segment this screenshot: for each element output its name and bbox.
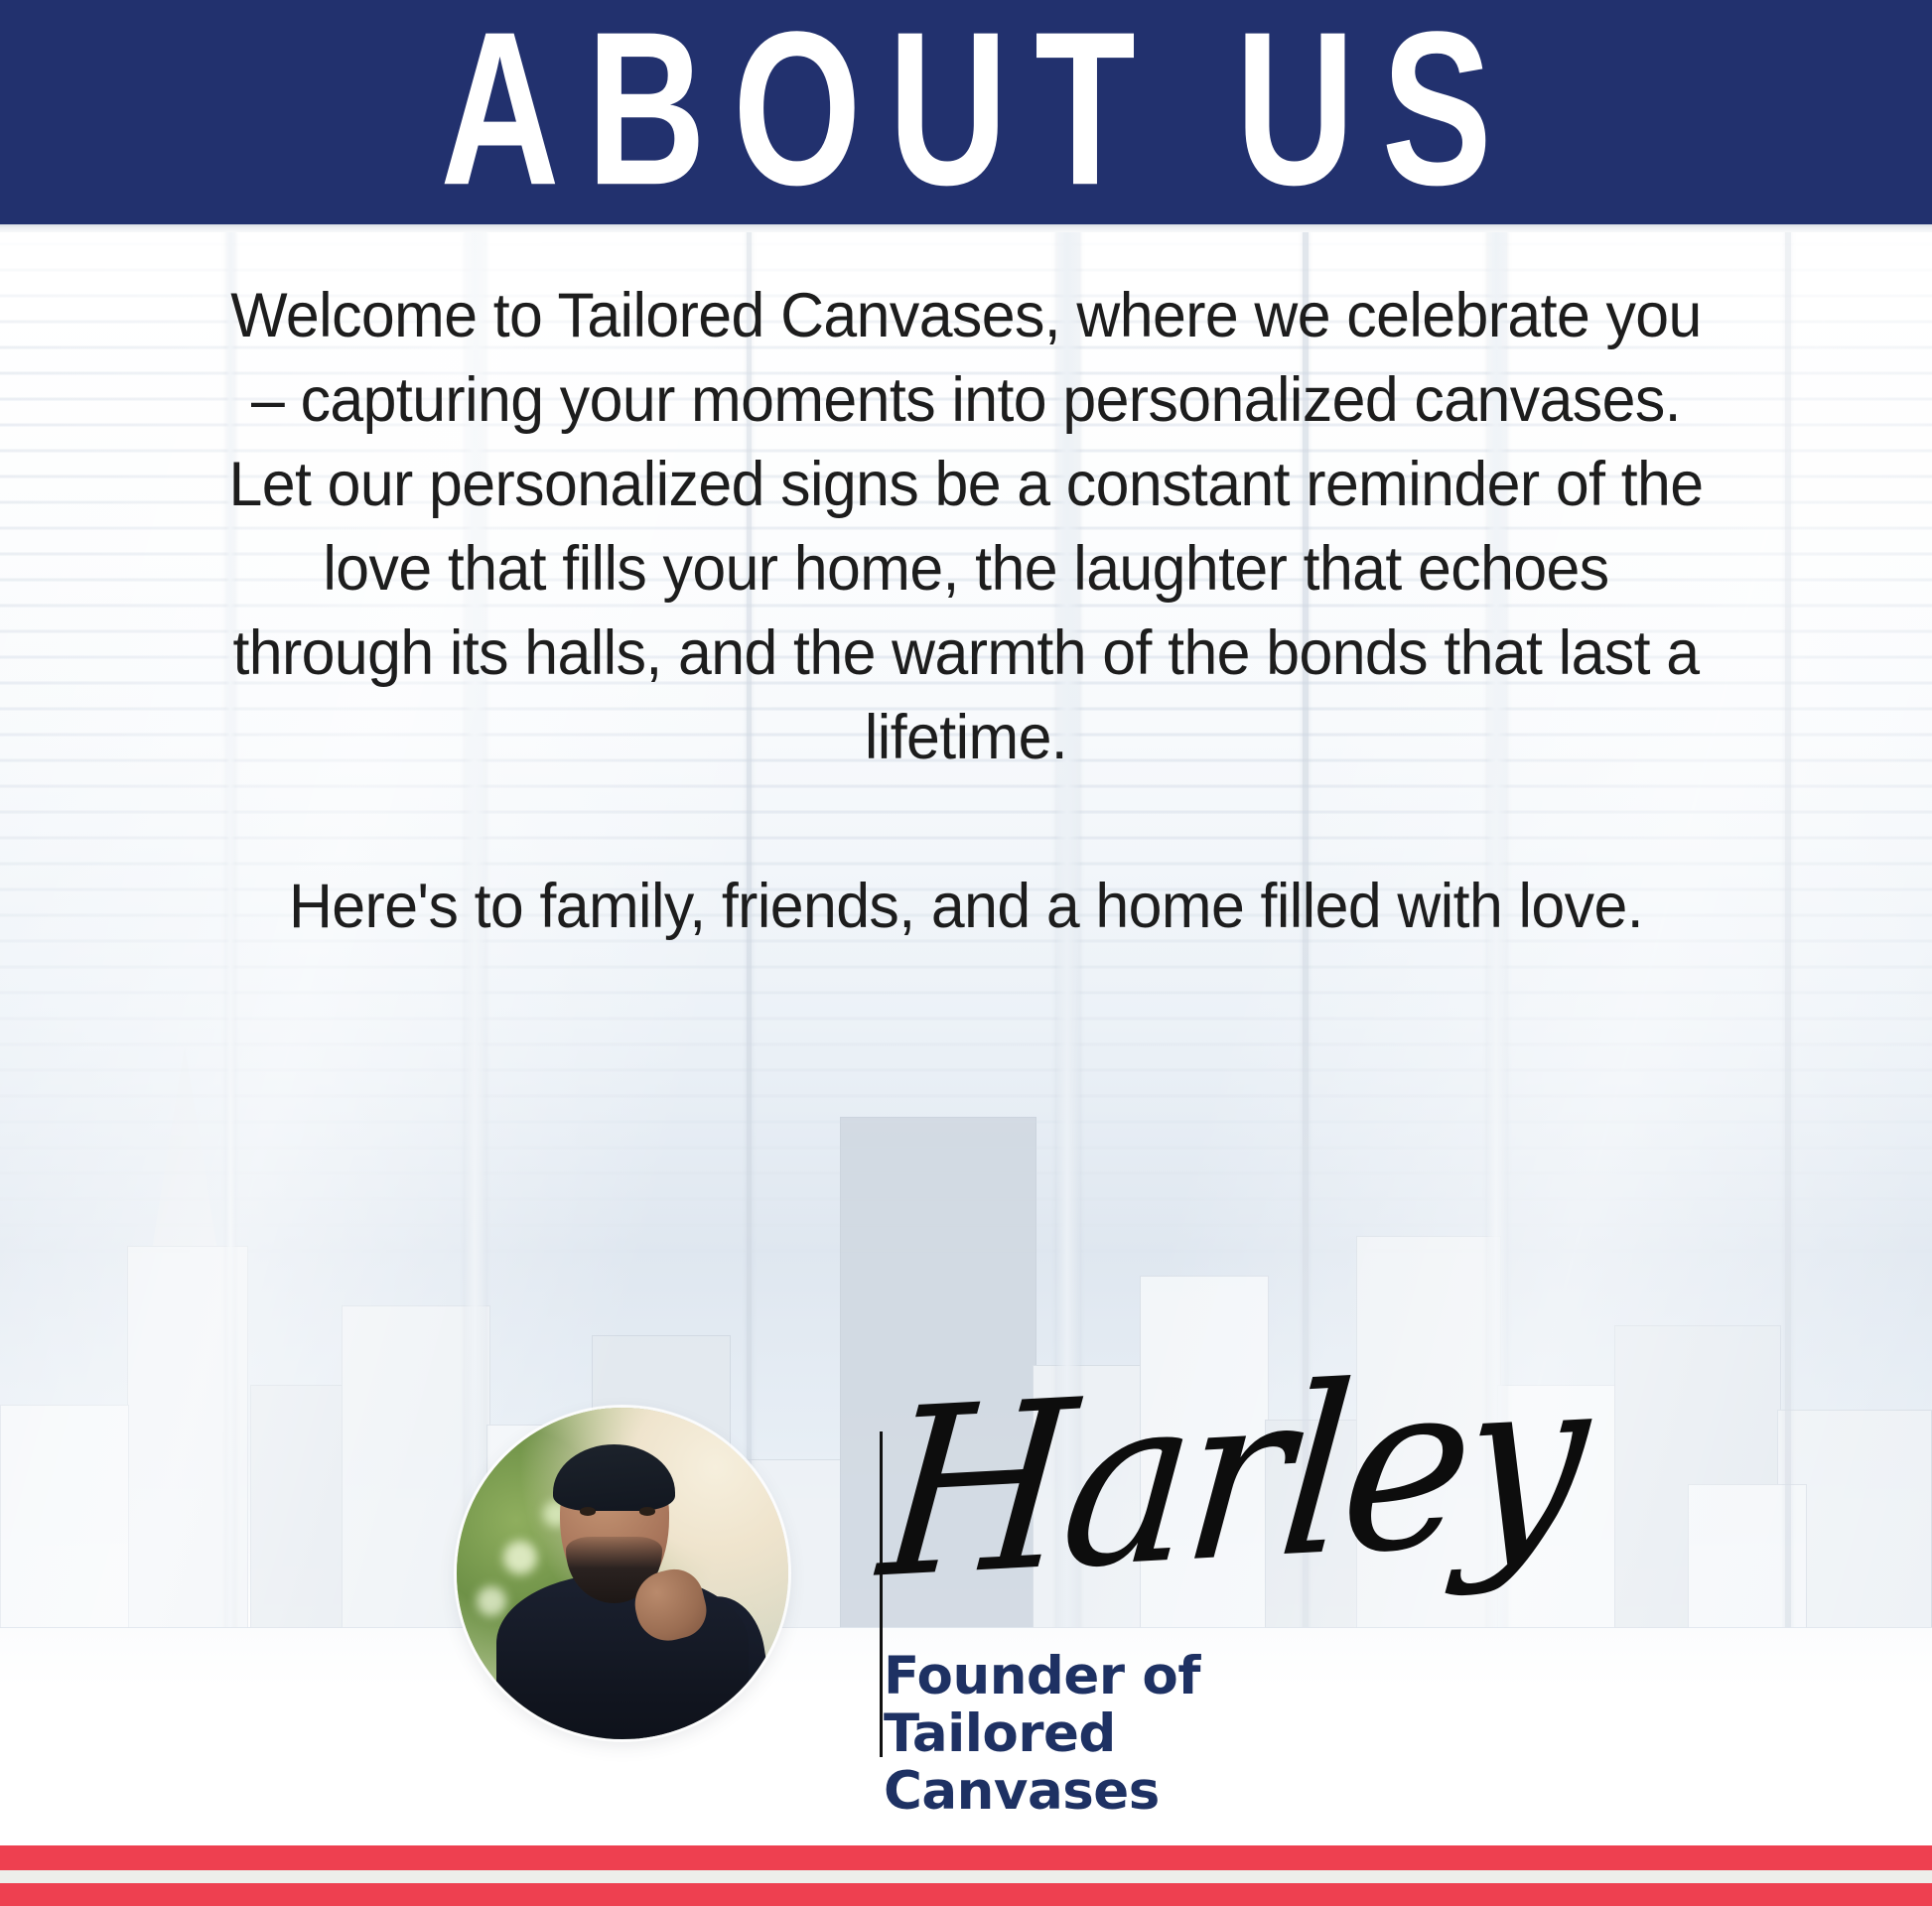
about-us-body-copy: Welcome to Tailored Canvases, where we c… bbox=[225, 274, 1707, 949]
body-paragraph-1: Welcome to Tailored Canvases, where we c… bbox=[225, 274, 1707, 780]
header-banner: ABOUT US bbox=[0, 0, 1932, 224]
avatar bbox=[457, 1408, 788, 1739]
header-underline bbox=[0, 224, 1932, 232]
founder-role-line-1: Founder of Tailored bbox=[884, 1648, 1380, 1763]
founder-role-line-2: Canvases bbox=[884, 1763, 1380, 1821]
founder-role: Founder of Tailored Canvases bbox=[884, 1648, 1380, 1821]
body-paragraph-2: Here's to family, friends, and a home fi… bbox=[225, 865, 1707, 949]
footer-bar-bottom bbox=[0, 1883, 1932, 1906]
avatar-eye bbox=[639, 1507, 656, 1516]
page-title: ABOUT US bbox=[413, 4, 1519, 214]
avatar-eye bbox=[580, 1507, 597, 1516]
footer-bar-gap bbox=[0, 1870, 1932, 1883]
about-us-poster: ABOUT US Welcome to Tailored Canvases, w… bbox=[0, 0, 1932, 1906]
footer-bar-top bbox=[0, 1845, 1932, 1870]
founder-signature: Harley bbox=[874, 1343, 1589, 1611]
bokeh-highlight bbox=[503, 1541, 537, 1574]
founder-signature-block: Harley Founder of Tailored Canvases bbox=[894, 1410, 1608, 1807]
